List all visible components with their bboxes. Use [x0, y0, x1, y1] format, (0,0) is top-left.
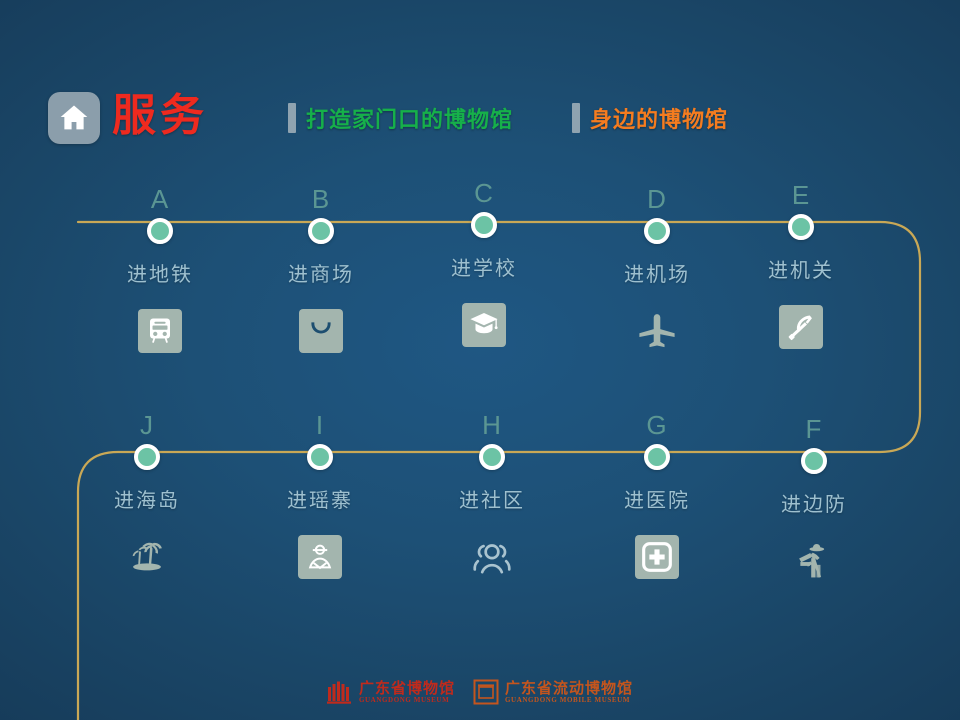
- slide-header: 服务 打造家门口的博物馆 身边的博物馆: [0, 0, 960, 170]
- route-node-e[interactable]: E进机关: [741, 182, 861, 355]
- route-node-f[interactable]: F进边防: [754, 416, 874, 589]
- node-label: 进机场: [597, 258, 717, 287]
- logo2-cn: 广东省流动博物馆: [505, 680, 633, 696]
- page-title: 服务: [112, 88, 208, 144]
- subtitle-bar-icon: [288, 103, 296, 133]
- route-node-d[interactable]: D进机场: [597, 186, 717, 359]
- slide-canvas: 服务 打造家门口的博物馆 身边的博物馆 A进地铁B进商场C进学校D进机场E进机关…: [0, 0, 960, 720]
- route-node-c[interactable]: C进学校: [424, 180, 544, 353]
- node-dot-icon[interactable]: [307, 444, 333, 470]
- node-letter: J: [87, 412, 207, 438]
- palm-island-icon: [124, 535, 170, 579]
- medical-cross-icon: [635, 535, 679, 579]
- node-label: 进社区: [432, 484, 552, 513]
- people-group-icon: [469, 534, 515, 580]
- node-dot-icon[interactable]: [801, 448, 827, 474]
- home-glyph: [57, 101, 91, 135]
- node-label: 进学校: [424, 252, 544, 281]
- museum-building-mark-icon: [327, 680, 353, 704]
- node-dot-icon[interactable]: [134, 444, 160, 470]
- logo-guangdong-mobile-museum: 广东省流动博物馆 GUANGDONG MOBILE MUSEUM: [473, 679, 633, 705]
- node-icon-slot: [754, 533, 874, 589]
- route-node-i[interactable]: I进瑶寨: [260, 412, 380, 585]
- node-letter: D: [597, 186, 717, 212]
- node-label: 进瑶寨: [260, 484, 380, 513]
- shopping-bag-icon: [299, 309, 343, 353]
- node-dot-icon[interactable]: [147, 218, 173, 244]
- graduation-cap-icon: [462, 303, 506, 347]
- node-icon-slot: [261, 303, 381, 359]
- node-label: 进边防: [754, 488, 874, 517]
- node-letter: A: [100, 186, 220, 212]
- node-dot-icon[interactable]: [308, 218, 334, 244]
- subtitle-orange-text: 身边的博物馆: [590, 102, 728, 134]
- airplane-icon: [635, 309, 679, 353]
- node-letter: C: [424, 180, 544, 206]
- route-node-h[interactable]: H进社区: [432, 412, 552, 585]
- node-dot-icon[interactable]: [788, 214, 814, 240]
- node-icon-slot: [100, 303, 220, 359]
- route-node-b[interactable]: B进商场: [261, 186, 381, 359]
- subtitle-bar-icon: [572, 103, 580, 133]
- node-icon-slot: [260, 529, 380, 585]
- route-node-g[interactable]: G进医院: [597, 412, 717, 585]
- node-label: 进机关: [741, 254, 861, 283]
- logo1-en: GUANGDONG MUSEUM: [359, 696, 455, 705]
- node-dot-icon[interactable]: [644, 218, 670, 244]
- home-icon[interactable]: [48, 92, 100, 144]
- subway-train-icon: [138, 309, 182, 353]
- node-letter: G: [597, 412, 717, 438]
- soldier-icon: [793, 540, 835, 582]
- node-dot-icon[interactable]: [479, 444, 505, 470]
- node-icon-slot: [87, 529, 207, 585]
- node-icon-slot: [597, 303, 717, 359]
- node-dot-icon[interactable]: [644, 444, 670, 470]
- node-icon-slot: [432, 529, 552, 585]
- subtitle-green-text: 打造家门口的博物馆: [306, 102, 513, 134]
- node-icon-slot: [424, 297, 544, 353]
- mobile-museum-mark-icon: [473, 679, 499, 705]
- node-letter: B: [261, 186, 381, 212]
- subtitle-orange: 身边的博物馆: [572, 102, 728, 134]
- node-letter: I: [260, 412, 380, 438]
- node-letter: H: [432, 412, 552, 438]
- hammer-sickle-icon: [779, 305, 823, 349]
- logo-guangdong-museum: 广东省博物馆 GUANGDONG MUSEUM: [327, 680, 455, 705]
- ethnic-person-icon: [298, 535, 342, 579]
- logo1-cn: 广东省博物馆: [359, 680, 455, 696]
- logo2-en: GUANGDONG MOBILE MUSEUM: [505, 696, 633, 705]
- node-label: 进海岛: [87, 484, 207, 513]
- route-node-a[interactable]: A进地铁: [100, 186, 220, 359]
- node-icon-slot: [597, 529, 717, 585]
- route-node-j[interactable]: J进海岛: [87, 412, 207, 585]
- node-label: 进地铁: [100, 258, 220, 287]
- node-label: 进医院: [597, 484, 717, 513]
- node-letter: E: [741, 182, 861, 208]
- node-dot-icon[interactable]: [471, 212, 497, 238]
- footer-logos: 广东省博物馆 GUANGDONG MUSEUM 广东省流动博物馆 GUANGDO…: [0, 672, 960, 712]
- node-label: 进商场: [261, 258, 381, 287]
- node-icon-slot: [741, 299, 861, 355]
- node-letter: F: [754, 416, 874, 442]
- subtitle-green: 打造家门口的博物馆: [288, 102, 513, 134]
